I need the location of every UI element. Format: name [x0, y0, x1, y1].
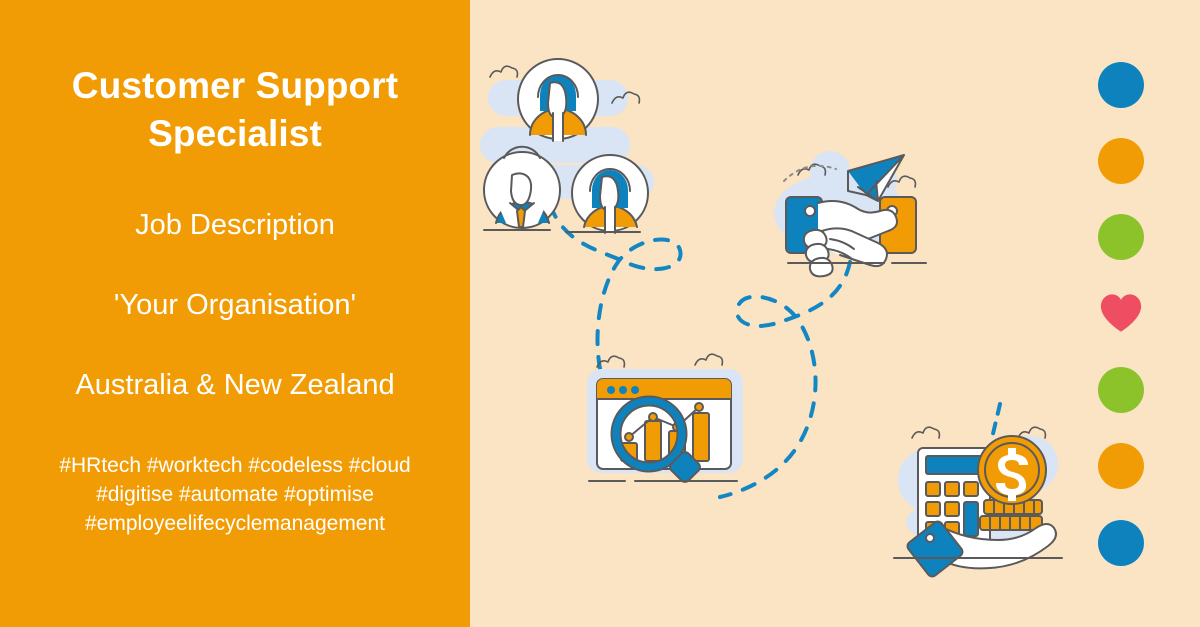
avatar-bottom-right [572, 155, 648, 233]
browser-dot-1 [607, 386, 615, 394]
marker-circle-blue-2 [1098, 520, 1144, 566]
cloud-doodle-browser [597, 354, 722, 367]
organisation-label: 'Your Organisation' [114, 288, 356, 323]
left-info-panel: Customer Support Specialist Job Descript… [0, 0, 470, 627]
hashtag-line-3: #employeelifecyclemanagement [59, 509, 410, 538]
right-illustration-panel: .ln { fill:none; stroke:#5A5A5A; stroke-… [470, 0, 1200, 627]
marker-circle-orange-2 [1098, 443, 1144, 489]
marker-heart-pink [1098, 290, 1144, 336]
hashtag-line-2: #digitise #automate #optimise [59, 480, 410, 509]
calculator-spark-line [992, 404, 1000, 438]
document-type-label: Job Description [135, 208, 335, 243]
marker-circle-green-1 [1098, 214, 1144, 260]
marker-circle-green-2 [1098, 367, 1144, 413]
dollar-coin-icon [978, 436, 1046, 504]
hashtag-block: #HRtech #worktech #codeless #cloud #digi… [59, 451, 410, 539]
hashtag-line-1: #HRtech #worktech #codeless #cloud [59, 451, 410, 480]
heart-icon [1098, 290, 1144, 336]
illustration-handshake [774, 151, 926, 276]
illustration-analytics-browser [587, 354, 743, 484]
page-title: Customer Support Specialist [35, 62, 435, 158]
marker-column [1098, 0, 1154, 627]
illustration-team-avatars [480, 59, 654, 233]
avatar-top [518, 59, 598, 141]
marker-circle-blue-1 [1098, 62, 1144, 108]
browser-dot-2 [619, 386, 627, 394]
region-label: Australia & New Zealand [75, 368, 394, 403]
job-description-poster: Customer Support Specialist Job Descript… [0, 0, 1200, 627]
illustration-layer: .ln { fill:none; stroke:#5A5A5A; stroke-… [470, 0, 1200, 627]
browser-dot-3 [631, 386, 639, 394]
illustration-payroll-calculator [894, 404, 1062, 578]
marker-circle-orange-1 [1098, 138, 1144, 184]
